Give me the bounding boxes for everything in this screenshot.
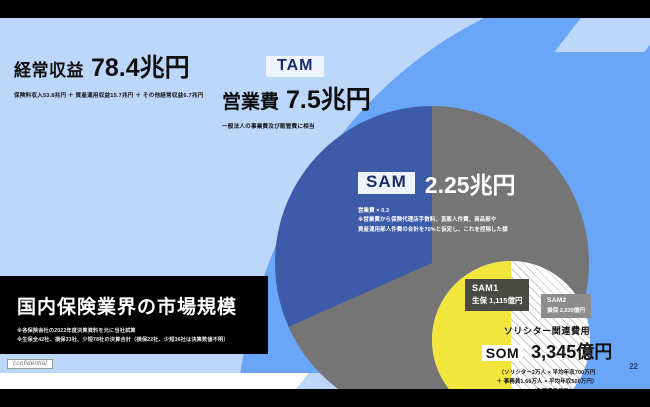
som-value: 3,345億円: [531, 338, 612, 364]
slide-canvas: 経常収益 78.4兆円 保険料収入53.8兆円 ＋ 資産運用収益15.7兆円 ＋…: [0, 18, 650, 389]
confidential-badge: confidential: [7, 359, 53, 369]
sam-block: SAM 2.25兆円 営業費 × 0.3 ※営業費から保険代理店手数料、直販人件…: [358, 166, 516, 235]
sam2-value: 損保 2,230億円: [547, 306, 585, 314]
sam1-badge: SAM1: [472, 283, 522, 293]
sam2-badge: SAM2: [547, 297, 585, 304]
som-note-3: ×1.5（各種費用係数）: [462, 388, 632, 389]
sam1-value: 生保 1,115億円: [472, 295, 522, 306]
som-note-1: （ソリシター2万人 × 平均年収700万円: [462, 369, 632, 378]
title-note-1: ※各保険会社の2022年度決算資料を元に当社試算: [17, 327, 136, 334]
revenue-note: 保険料収入53.8兆円 ＋ 資産運用収益15.7兆円 ＋ その他経常収益6.7兆…: [14, 91, 203, 99]
som-badge: SOM: [482, 345, 523, 361]
tam-badge: TAM: [266, 56, 324, 77]
title-note-2: ※生保全42社、損保33社、少短78社の決算合計（損保22社、少短36社は決算数…: [17, 336, 229, 343]
page-title: 国内保険業界の市場規模: [17, 292, 237, 319]
sam-note-3: 資産運用部人件費の合計を70%と仮定し、これを控除した額: [358, 226, 516, 235]
tam-note: 一般法人の事業費及び販管費に相当: [222, 122, 371, 130]
sam1-chip: SAM1 生保 1,115億円: [465, 279, 529, 311]
page-number: 22: [629, 362, 638, 371]
som-heading: ソリシター関連費用: [462, 324, 632, 337]
revenue-value: 78.4兆円: [91, 48, 190, 84]
title-panel: 国内保険業界の市場規模 ※各保険会社の2022年度決算資料を元に当社試算 ※生保…: [0, 276, 268, 354]
sam-note-2: ※営業費から保険代理店手数料、直販人件費、商品部や: [358, 216, 516, 225]
som-block: ソリシター関連費用 SOM 3,345億円 （ソリシター2万人 × 平均年収70…: [462, 324, 632, 389]
sam-note-1: 営業費 × 0.3: [358, 207, 516, 216]
som-note-2: ＋ 事務員1.66万人 × 平均年収500万円）: [462, 378, 632, 387]
sam2-chip: SAM2 損保 2,230億円: [541, 294, 591, 318]
tam-label: 営業費: [222, 87, 279, 114]
tam-value: 7.5兆円: [286, 80, 371, 116]
tam-block: TAM 営業費 7.5兆円 一般法人の事業費及び販管費に相当: [222, 56, 371, 130]
revenue-block: 経常収益 78.4兆円 保険料収入53.8兆円 ＋ 資産運用収益15.7兆円 ＋…: [14, 48, 203, 99]
sam-badge: SAM: [358, 172, 415, 194]
revenue-label: 経常収益: [14, 56, 84, 81]
slide-frame: 経常収益 78.4兆円 保険料収入53.8兆円 ＋ 資産運用収益15.7兆円 ＋…: [0, 0, 650, 407]
sam-value: 2.25兆円: [425, 166, 516, 200]
